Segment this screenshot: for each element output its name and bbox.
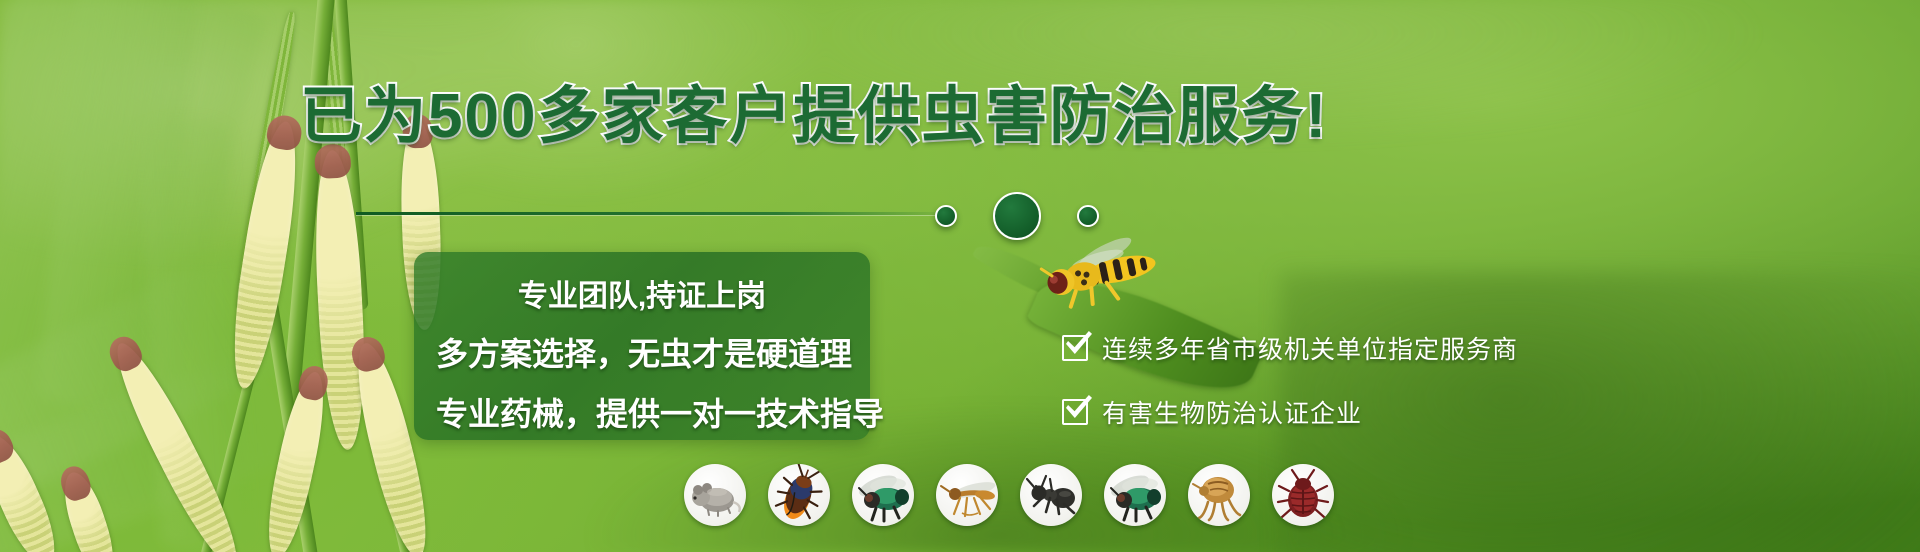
bedbug-icon: [1272, 464, 1334, 526]
decorative-dot-small: [1077, 205, 1099, 227]
flower-spike-tip: [104, 331, 147, 375]
flower-spike: [259, 368, 334, 552]
credentials-checklist: 连续多年省市级机关单位指定服务商 有害生物防治认证企业: [1062, 330, 1518, 430]
check-box-icon: [1062, 399, 1088, 425]
checklist-item-label: 有害生物防治认证企业: [1102, 394, 1362, 430]
flower-spike-tip: [0, 424, 18, 468]
cockroach-icon: [768, 464, 830, 526]
blowfly-icon: [1104, 464, 1166, 526]
promo-banner: 已为500多家客户提供虫害防治服务! 专业团队,持证上岗 多方案选择，无虫才是硬…: [0, 0, 1920, 552]
selling-point-line-3: 专业药械，提供一对一技术指导: [436, 389, 848, 435]
selling-point-line-2: 多方案选择，无虫才是硬道理: [436, 329, 848, 375]
checklist-item: 有害生物防治认证企业: [1062, 394, 1518, 430]
flower-spike: [56, 467, 122, 552]
headline-underline-rule: [356, 212, 956, 215]
mouse-icon: [684, 464, 746, 526]
checklist-item: 连续多年省市级机关单位指定服务商: [1062, 330, 1518, 366]
ant-icon: [1020, 464, 1082, 526]
banner-headline-text: 已为500多家客户提供虫害防治服务!: [300, 82, 1328, 151]
mosquito-icon: [936, 464, 998, 526]
decorative-dot-large: [993, 192, 1041, 240]
pest-icon-row: [684, 464, 1334, 526]
decorative-dot-small: [935, 205, 957, 227]
flower-spike: [0, 428, 67, 552]
checklist-item-label: 连续多年省市级机关单位指定服务商: [1102, 330, 1518, 366]
check-box-icon: [1062, 335, 1088, 361]
selling-points-panel: 专业团队,持证上岗 多方案选择，无虫才是硬道理 专业药械，提供一对一技术指导: [414, 252, 870, 440]
decorative-dots: [935, 192, 1099, 240]
selling-point-line-1: 专业团队,持证上岗: [436, 271, 848, 315]
banner-headline: 已为500多家客户提供虫害防治服务!: [300, 82, 1580, 152]
fly-icon: [852, 464, 914, 526]
flower-spike-tip: [57, 463, 93, 504]
flea-icon: [1188, 464, 1250, 526]
